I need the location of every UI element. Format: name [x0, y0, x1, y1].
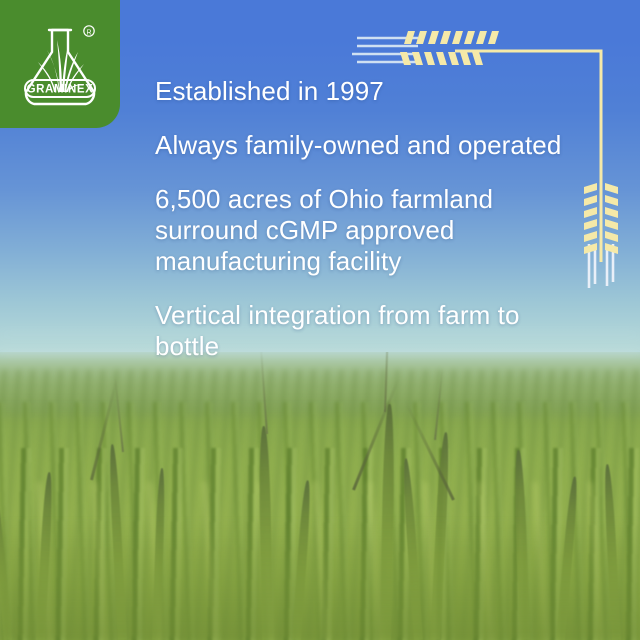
copy-block: Established in 1997 Always family-owned …: [155, 76, 585, 362]
wheat-field-photo: [0, 352, 640, 640]
svg-text:R: R: [86, 29, 91, 36]
brand-name-text: GRAMINEX: [27, 84, 94, 96]
copy-line-established: Established in 1997: [155, 76, 585, 107]
graminex-logo-badge[interactable]: R GRAMINEX: [0, 0, 120, 128]
copy-line-acreage: 6,500 acres of Ohio farmland surround cG…: [155, 184, 585, 277]
infographic-poster: R GRAMINEX: [0, 0, 640, 640]
copy-line-family-owned: Always family-owned and operated: [155, 130, 585, 161]
field-foreground-shade: [0, 520, 640, 640]
registered-trademark-icon: R: [84, 26, 94, 37]
copy-line-integration: Vertical integration from farm to bottle: [155, 300, 585, 362]
graminex-logo: R GRAMINEX: [0, 0, 120, 128]
